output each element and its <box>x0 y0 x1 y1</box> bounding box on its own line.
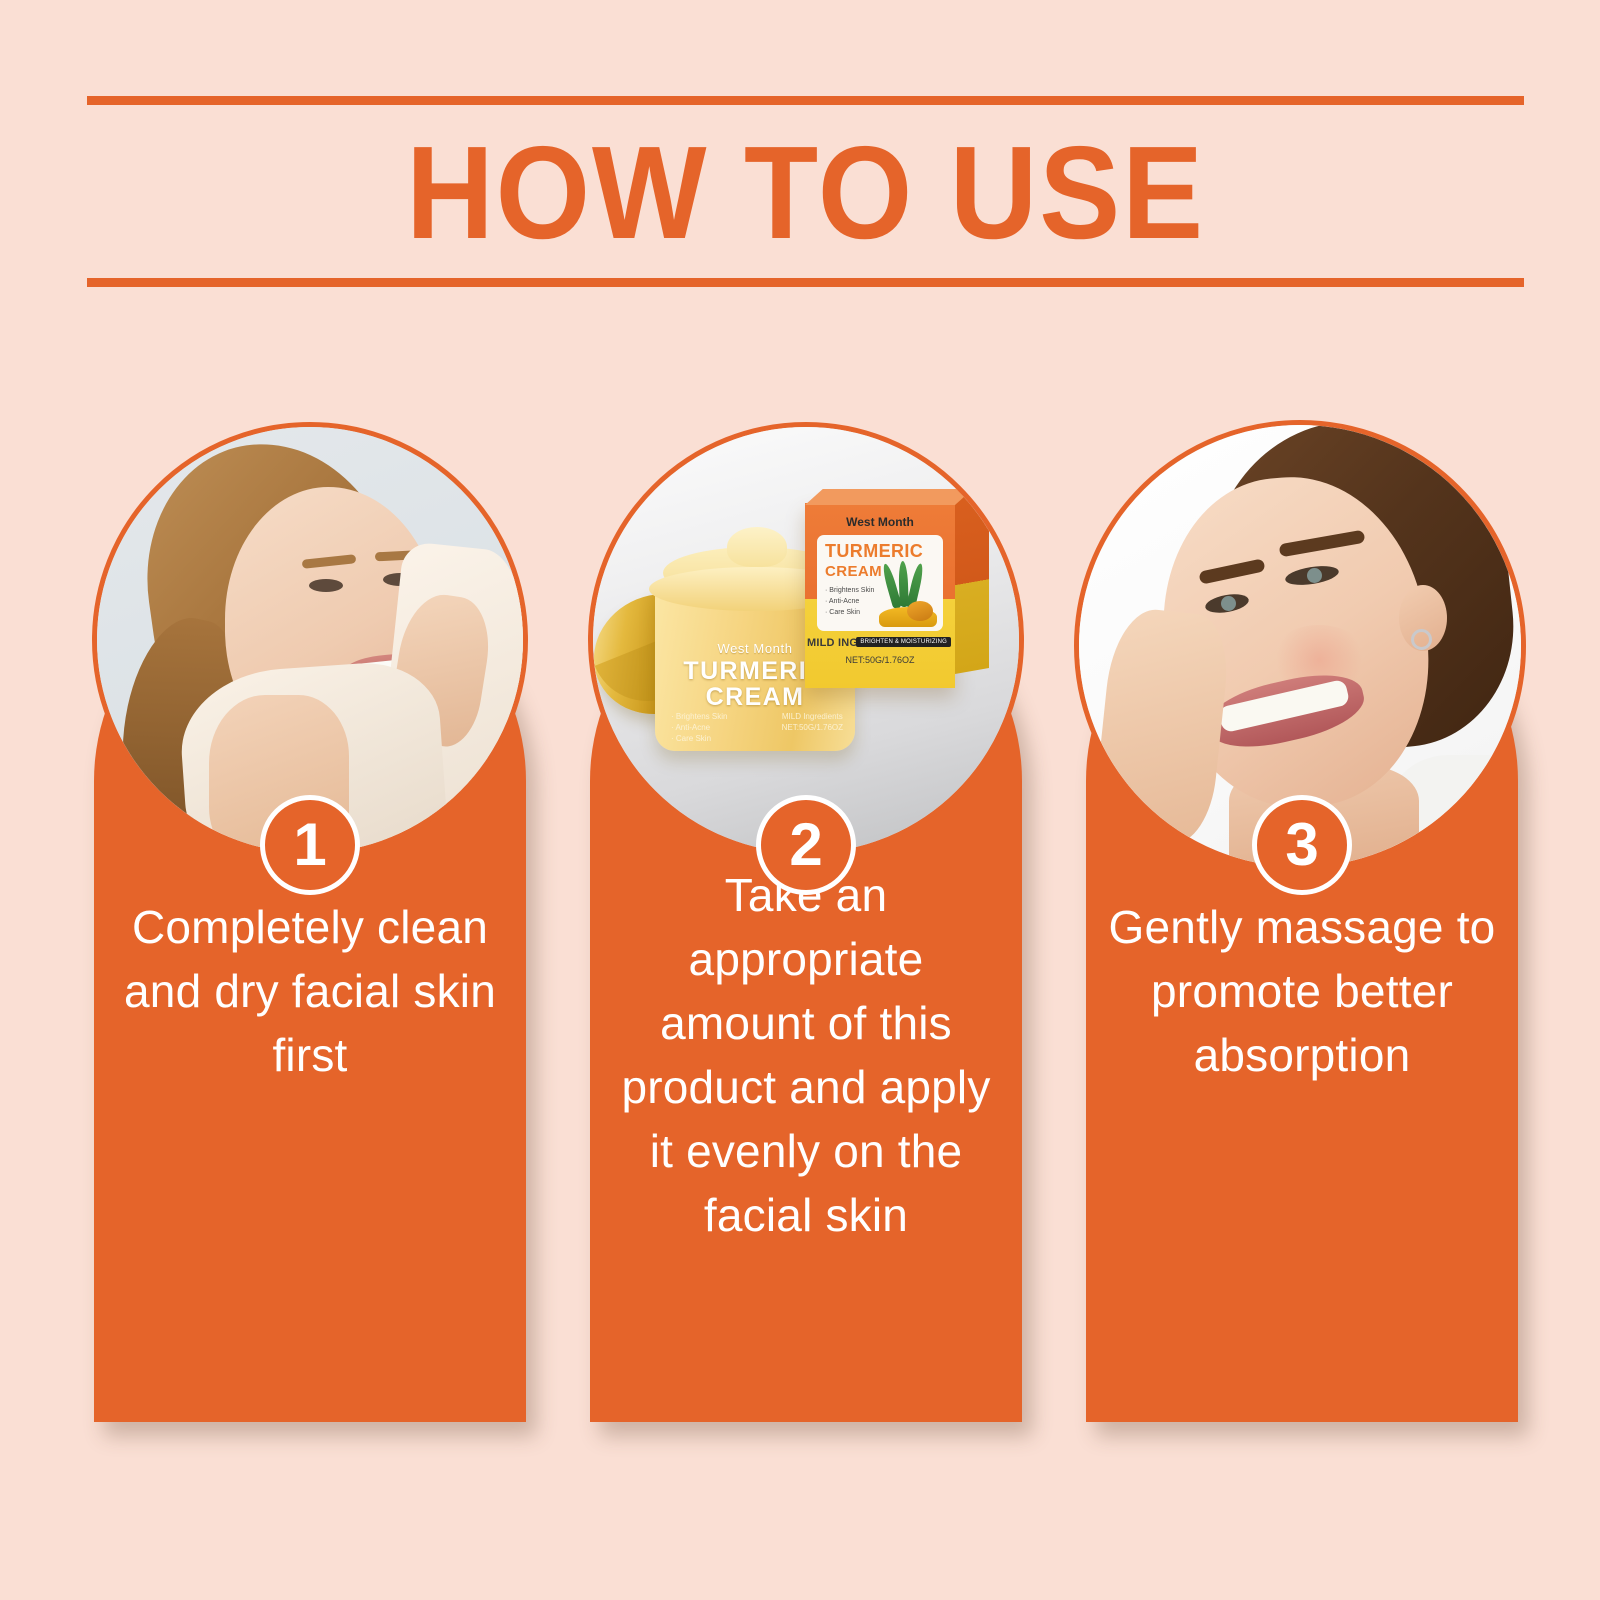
product-box: ACNECalmingSkincareTurmericNourishDailyC… <box>805 503 955 688</box>
step-card-2[interactable]: West Month TURMERIC CREAM · Brightens Sk… <box>590 565 1022 1422</box>
step-1-media-circle <box>92 422 528 858</box>
step-2-media-circle: West Month TURMERIC CREAM · Brightens Sk… <box>588 422 1024 858</box>
jar-mild-label: MILD Ingredients NET:50G/1.76OZ <box>782 711 843 733</box>
turmeric-cream-product-photo: West Month TURMERIC CREAM · Brightens Sk… <box>593 427 1019 853</box>
step-card-1[interactable]: 1 Completely clean and dry facial skin f… <box>94 565 526 1422</box>
jar-benefits: · Brightens Skin · Anti-Acne · Care Skin <box>671 711 727 744</box>
steps-container: 1 Completely clean and dry facial skin f… <box>0 0 1600 1600</box>
box-side-panel: ACNECalmingSkincareTurmericNourishDailyC… <box>955 483 989 674</box>
box-benefits: · Brightens Skin · Anti-Acne · Care Skin <box>825 585 874 618</box>
step-3-caption: Gently massage to promote better absorpt… <box>1102 895 1502 1087</box>
step-2-number-badge: 2 <box>756 795 856 895</box>
turmeric-illustration <box>873 563 939 627</box>
box-name-line1: TURMERIC <box>825 541 923 562</box>
step-3-number-badge: 3 <box>1252 795 1352 895</box>
woman-cleansing-face-photo <box>97 427 523 853</box>
step-1-number-badge: 1 <box>260 795 360 895</box>
box-net-weight: NET:50G/1.76OZ <box>805 655 955 665</box>
step-card-3[interactable]: 3 Gently massage to promote better absor… <box>1086 565 1518 1422</box>
infographic-page: HOW TO USE 1 Completely clean and dry fa… <box>0 0 1600 1600</box>
box-claim-badge: BRIGHTEN & MOISTURIZING <box>856 637 951 647</box>
box-brand: West Month <box>805 515 955 529</box>
step-1-caption: Completely clean and dry facial skin fir… <box>110 895 510 1087</box>
step-2-caption: Take an appropriate amount of this produ… <box>606 863 1006 1247</box>
box-front-panel: TURMERIC CREAM · Brightens Skin · Anti-A… <box>817 535 943 631</box>
